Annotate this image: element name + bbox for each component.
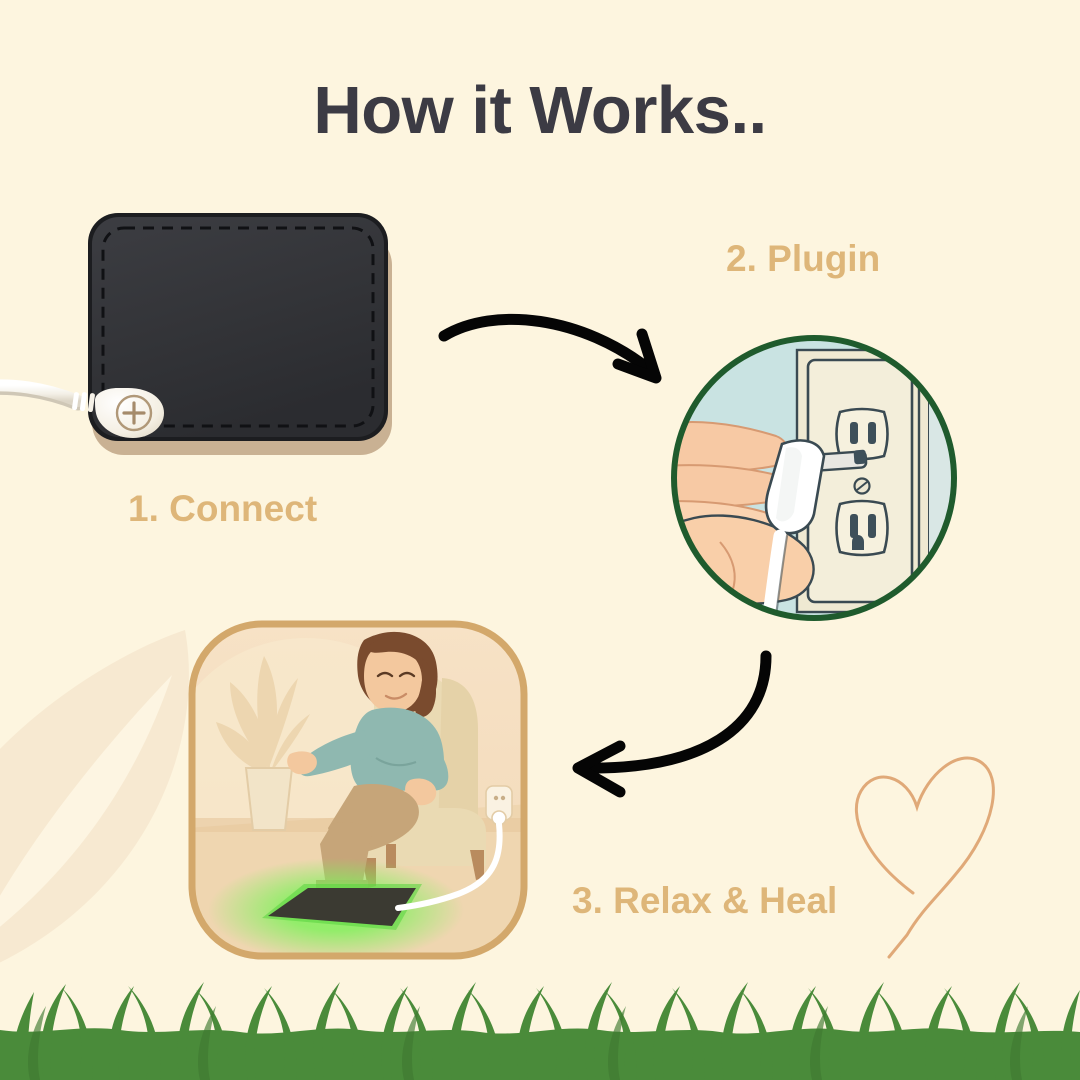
- grass-border-icon: [0, 970, 1080, 1080]
- step-2-plugin-image: [668, 332, 960, 624]
- step-1-grounding-mat-image: [0, 195, 420, 470]
- step-1-label: 1. Connect: [128, 488, 317, 530]
- cable-grip: [72, 392, 95, 413]
- step-3-label: 3. Relax & Heal: [572, 880, 837, 922]
- step-2-label: 2. Plugin: [726, 238, 880, 280]
- glowing-grounding-mat: [208, 858, 464, 962]
- infographic-canvas: How it Works..: [0, 0, 1080, 1080]
- arrow-plugin-to-relax-icon: [552, 618, 797, 813]
- page-title: How it Works..: [0, 72, 1080, 149]
- step-3-relax-image: [186, 618, 530, 962]
- outlet-socket-bottom: [837, 501, 888, 555]
- heart-doodle-icon: [845, 745, 1035, 960]
- arrow-connect-to-plugin-icon: [432, 298, 697, 413]
